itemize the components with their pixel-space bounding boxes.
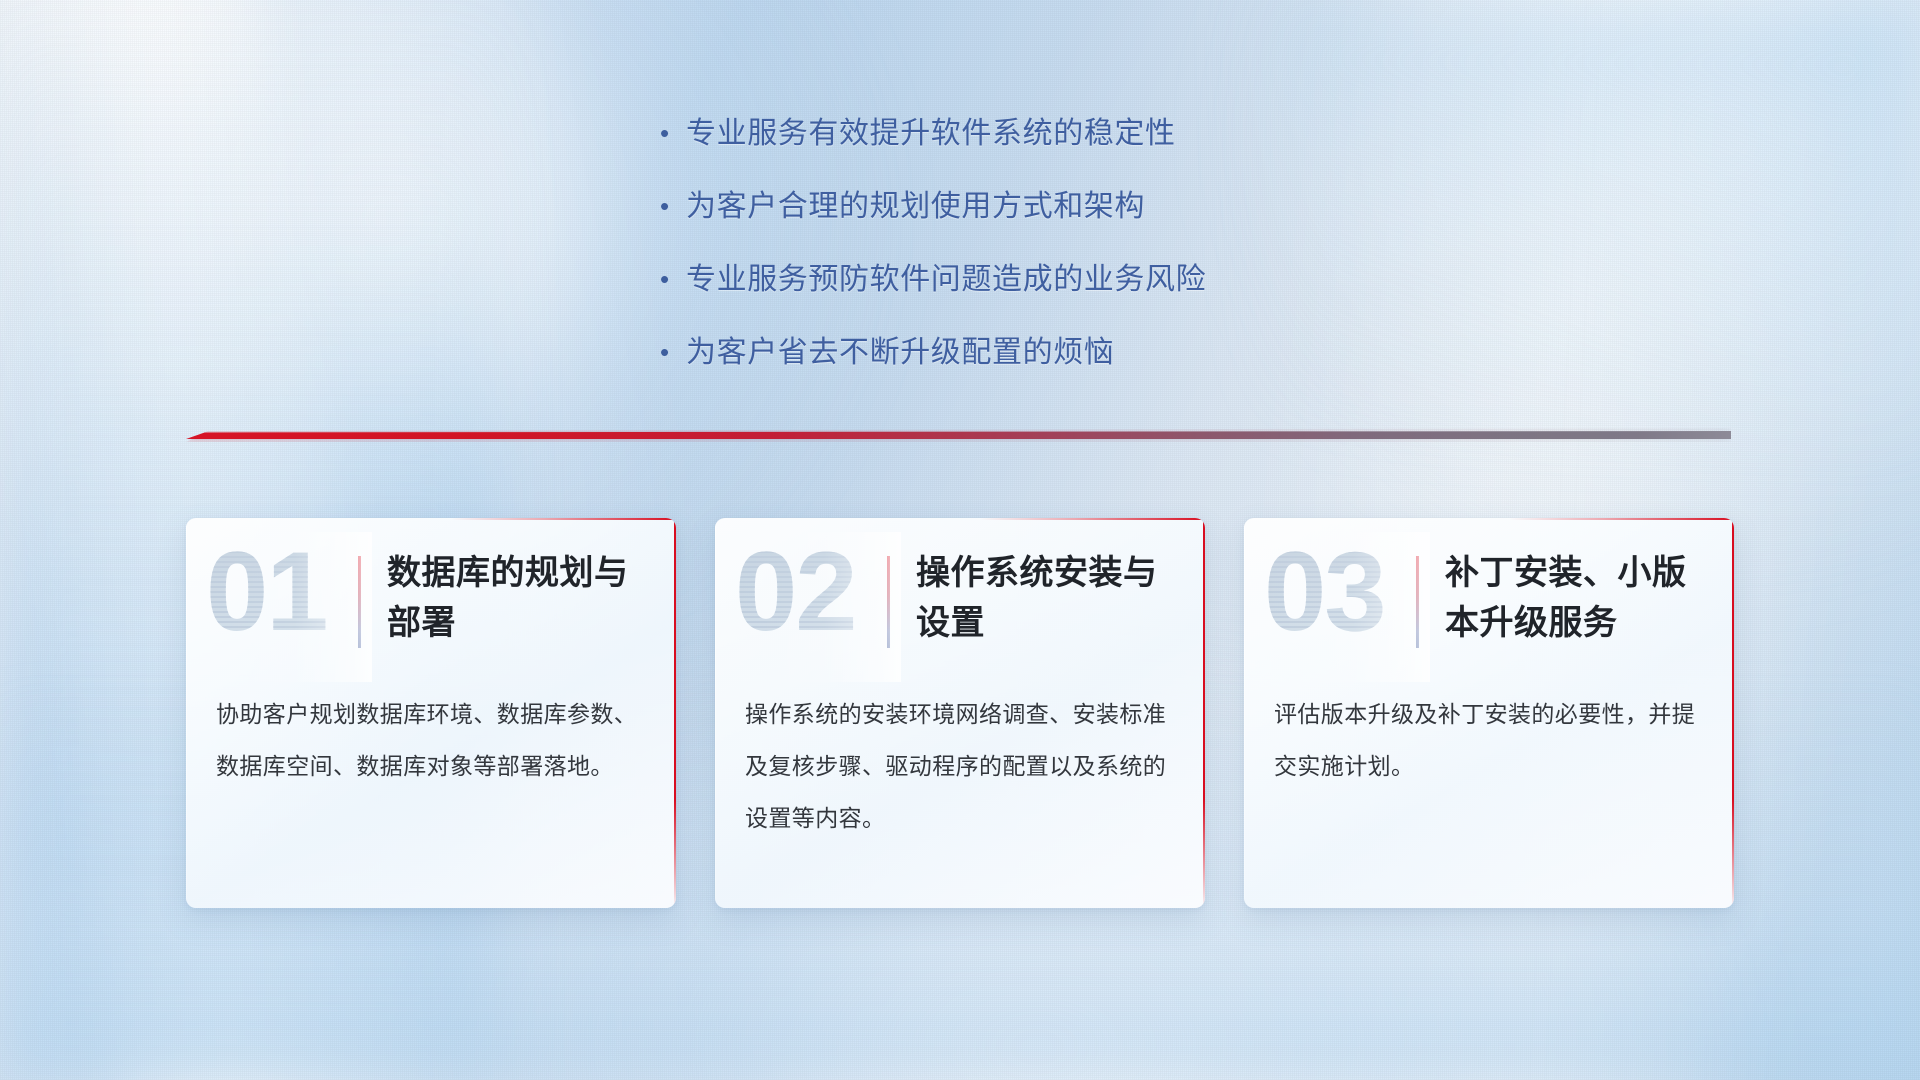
card-title: 补丁安装、小版本升级服务 bbox=[1445, 548, 1704, 648]
card-number-text: 01 bbox=[206, 536, 327, 648]
card-number-watermark: 02 bbox=[741, 550, 887, 668]
card-body-text: 操作系统的安装环境网络调查、安装标准及复核步骤、驱动程序的配置以及系统的设置等内… bbox=[715, 678, 1205, 844]
card-title-rule bbox=[358, 556, 361, 648]
card-title-rule bbox=[887, 556, 890, 648]
card-title: 数据库的规划与部署 bbox=[387, 548, 646, 648]
card-header: 02 操作系统安装与设置 bbox=[715, 518, 1205, 678]
card-number-watermark: 03 bbox=[1270, 550, 1416, 668]
card-body-text: 评估版本升级及补丁安装的必要性，并提交实施计划。 bbox=[1244, 678, 1734, 792]
benefits-bullet-list: • 专业服务有效提升软件系统的稳定性 • 为客户合理的规划使用方式和架构 • 专… bbox=[660, 112, 1420, 404]
bullet-point-icon: • bbox=[660, 331, 686, 374]
card-title-rule bbox=[1416, 556, 1419, 648]
card-header: 03 补丁安装、小版本升级服务 bbox=[1244, 518, 1734, 678]
card-body-text: 协助客户规划数据库环境、数据库参数、数据库空间、数据库对象等部署落地。 bbox=[186, 678, 676, 792]
service-card-03[interactable]: 03 补丁安装、小版本升级服务 评估版本升级及补丁安装的必要性，并提交实施计划。 bbox=[1244, 518, 1734, 908]
bullet-point-icon: • bbox=[660, 258, 686, 301]
service-card-02[interactable]: 02 操作系统安装与设置 操作系统的安装环境网络调查、安装标准及复核步骤、驱动程… bbox=[715, 518, 1205, 908]
bullet-point-icon: • bbox=[660, 185, 686, 228]
list-item: • 专业服务有效提升软件系统的稳定性 bbox=[660, 112, 1420, 155]
bullet-text: 专业服务有效提升软件系统的稳定性 bbox=[686, 112, 1176, 155]
card-header: 01 数据库的规划与部署 bbox=[186, 518, 676, 678]
bullet-point-icon: • bbox=[660, 112, 686, 155]
bullet-text: 为客户合理的规划使用方式和架构 bbox=[686, 185, 1145, 228]
bullet-text: 专业服务预防软件问题造成的业务风险 bbox=[686, 258, 1206, 301]
bullet-text: 为客户省去不断升级配置的烦恼 bbox=[686, 331, 1114, 374]
list-item: • 专业服务预防软件问题造成的业务风险 bbox=[660, 258, 1420, 301]
service-card-row: 01 数据库的规划与部署 协助客户规划数据库环境、数据库参数、数据库空间、数据库… bbox=[186, 518, 1734, 918]
list-item: • 为客户合理的规划使用方式和架构 bbox=[660, 185, 1420, 228]
card-number-text: 02 bbox=[735, 536, 856, 648]
card-number-text: 03 bbox=[1264, 536, 1385, 648]
card-title: 操作系统安装与设置 bbox=[916, 548, 1175, 648]
card-number-watermark: 01 bbox=[212, 550, 358, 668]
list-item: • 为客户省去不断升级配置的烦恼 bbox=[660, 331, 1420, 374]
service-card-01[interactable]: 01 数据库的规划与部署 协助客户规划数据库环境、数据库参数、数据库空间、数据库… bbox=[186, 518, 676, 908]
section-divider bbox=[186, 424, 1731, 442]
